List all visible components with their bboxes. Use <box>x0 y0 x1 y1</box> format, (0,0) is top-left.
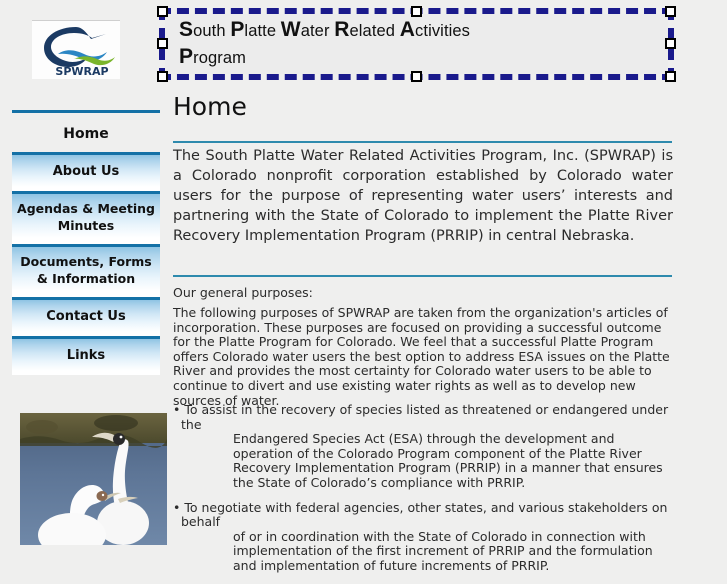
page-root: SPWRAP South Platte Water Related Activi… <box>0 0 727 545</box>
banner-rest-platte: latte <box>244 22 280 40</box>
site-logo[interactable]: SPWRAP <box>32 20 120 79</box>
sidebar-nav: Home About Us Agendas & Meeting Minutes … <box>12 118 160 375</box>
banner-cap-s: S <box>179 18 193 41</box>
selection-handle-bottom-left[interactable] <box>157 71 168 82</box>
banner-title-text: South Platte Water Related Activities Pr… <box>179 17 470 71</box>
sidebar-item-links-label: Links <box>14 348 158 363</box>
content-mid-rule <box>173 275 672 277</box>
selection-handle-bottom-right[interactable] <box>665 71 676 82</box>
bullet-dot-icon: • <box>173 500 184 515</box>
site-banner[interactable]: South Platte Water Related Activities Pr… <box>159 8 674 80</box>
whooping-cranes-image <box>20 413 167 545</box>
banner-cap-w: W <box>281 18 301 41</box>
spwrap-crane-logo-icon: SPWRAP <box>32 21 120 79</box>
purposes-body-paragraph: The following purposes of SPWRAP are tak… <box>173 306 675 408</box>
content-top-rule <box>173 141 672 143</box>
purposes-bullet-list: • To assist in the recovery of species l… <box>173 403 675 584</box>
lead-paragraph: The South Platte Water Related Activitie… <box>173 146 673 246</box>
selection-handle-bottom-middle[interactable] <box>411 71 422 82</box>
page-title: Home <box>173 92 247 121</box>
sidebar-item-home[interactable]: Home <box>12 118 160 152</box>
selection-handle-middle-left[interactable] <box>157 38 168 49</box>
sidebar-item-agendas-minutes[interactable]: Agendas & Meeting Minutes <box>12 191 160 244</box>
bullet-2-body: of or in coordination with the State of … <box>181 530 675 574</box>
bullet-1-first-line: To assist in the recovery of species lis… <box>181 402 668 432</box>
sidebar-item-documents-forms[interactable]: Documents, Forms & Information <box>12 244 160 297</box>
bullet-1-body: Endangered Species Act (ESA) through the… <box>181 432 675 490</box>
sidebar-top-rule <box>12 110 160 113</box>
bullet-dot-icon: • <box>173 402 184 417</box>
banner-inner-box: South Platte Water Related Activities Pr… <box>165 14 668 74</box>
sidebar-item-documents-forms-label-line2: & Information <box>14 270 158 287</box>
sidebar-item-home-label: Home <box>12 126 160 142</box>
banner-rest-water: ater <box>301 22 335 40</box>
sidebar-item-links[interactable]: Links <box>12 336 160 375</box>
selection-handle-top-left[interactable] <box>157 6 168 17</box>
whooping-cranes-photo <box>20 413 167 545</box>
banner-cap-a: A <box>400 18 415 41</box>
bullet-2-first-line: To negotiate with federal agencies, othe… <box>181 500 667 530</box>
sidebar-item-agendas-minutes-label-line2: Minutes <box>14 217 158 234</box>
sidebar-item-about-us-label: About Us <box>14 164 158 179</box>
banner-cap-r: R <box>334 18 349 41</box>
banner-cap-p2: P <box>179 45 193 68</box>
banner-rest-south: outh <box>193 22 230 40</box>
sidebar-item-documents-forms-label-line1: Documents, Forms <box>14 253 158 270</box>
banner-rest-activities: ctivities <box>415 22 470 40</box>
main-content: The South Platte Water Related Activitie… <box>173 146 673 246</box>
selection-handle-middle-right[interactable] <box>665 38 676 49</box>
selection-handle-top-right[interactable] <box>665 6 676 17</box>
banner-rest-program: rogram <box>193 49 246 67</box>
sidebar-item-contact-us-label: Contact Us <box>14 309 158 324</box>
sidebar-item-agendas-minutes-label-line1: Agendas & Meeting <box>14 200 158 217</box>
general-purposes-heading: Our general purposes: <box>173 285 673 301</box>
list-item: • To assist in the recovery of species l… <box>173 403 675 491</box>
list-item: • To negotiate with federal agencies, ot… <box>173 501 675 574</box>
selection-handle-top-middle[interactable] <box>411 6 422 17</box>
sidebar-item-contact-us[interactable]: Contact Us <box>12 297 160 336</box>
sidebar-item-about-us[interactable]: About Us <box>12 152 160 191</box>
banner-cap-p: P <box>230 18 244 41</box>
banner-rest-related: elated <box>350 22 400 40</box>
banner-line2: Program <box>179 44 470 71</box>
logo-wordmark: SPWRAP <box>55 65 108 78</box>
